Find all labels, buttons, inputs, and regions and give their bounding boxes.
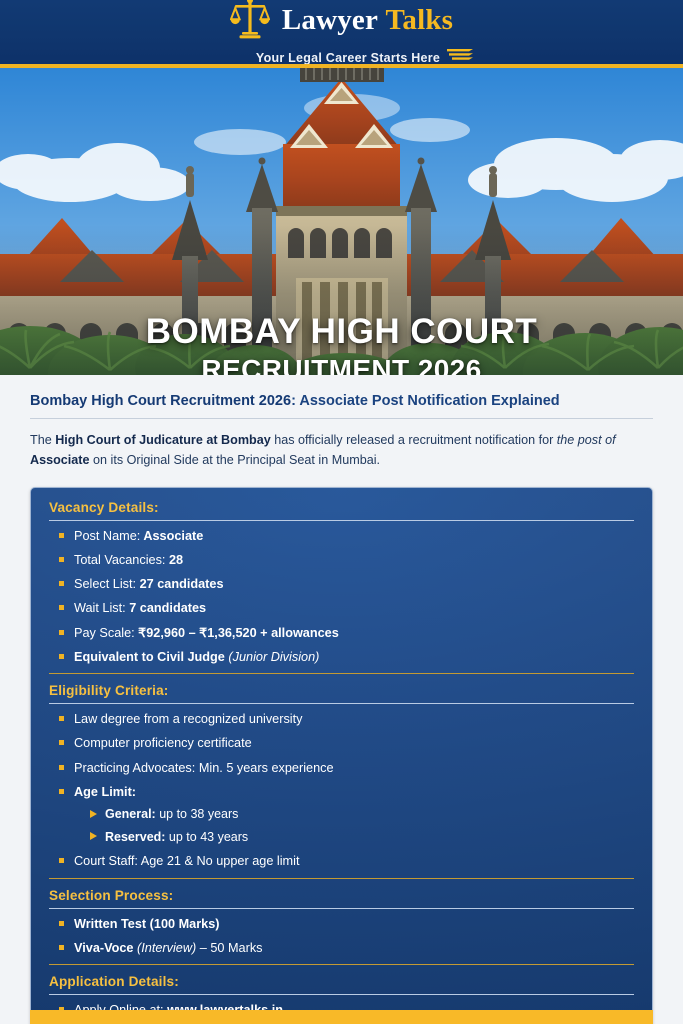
list-item: Equivalent to Civil Judge (Junior Divisi… — [59, 649, 634, 665]
article-paragraph: The High Court of Judicature at Bombay h… — [30, 430, 653, 471]
article-heading-main: Bombay High Court Recruitment 2026 — [30, 393, 291, 409]
para-seg-2: High Court of Judicature at Bombay — [55, 433, 271, 447]
list-item: Age Limit:General: up to 38 yearsReserve… — [59, 784, 634, 846]
brand-tagline: Your Legal Career Starts Here — [256, 51, 440, 65]
scales-of-justice-icon — [230, 0, 270, 45]
para-seg-1: The — [30, 433, 55, 447]
list-item: Wait List: 7 candidates — [59, 600, 634, 616]
hero-text-block: BOMBAY HIGH COURT RECRUITMENT 2026 ASSOC… — [0, 314, 683, 375]
brand-title: Lawyer Talks — [282, 6, 453, 35]
item-label: Age Limit: — [74, 785, 136, 799]
item-value: Law degree from a recognized university — [74, 712, 303, 726]
section-heading: Eligibility Criteria: — [49, 683, 634, 704]
item-label: Written Test (100 Marks) — [74, 917, 219, 931]
hero-banner: BOMBAY HIGH COURT RECRUITMENT 2026 ASSOC… — [0, 68, 683, 375]
list-item: Written Test (100 Marks) — [59, 916, 634, 932]
para-seg-4: the post of — [557, 433, 616, 447]
section-list: Law degree from a recognized universityC… — [49, 704, 634, 870]
hero-title: BOMBAY HIGH COURT — [0, 314, 683, 349]
item-value: Associate — [140, 529, 203, 543]
list-item: Law degree from a recognized university — [59, 711, 634, 727]
list-item: Total Vacancies: 28 — [59, 552, 634, 568]
item-value: Computer proficiency certificate — [74, 736, 252, 750]
list-item: Pay Scale: ₹92,960 – ₹1,36,520 + allowan… — [59, 625, 634, 641]
section-list: Post Name: AssociateTotal Vacancies: 28S… — [49, 521, 634, 666]
item-label: Pay Scale: — [74, 626, 135, 640]
sub-item-value: up to 43 years — [165, 830, 248, 844]
details-sections: Vacancy Details:Post Name: AssociateTota… — [49, 500, 634, 1024]
list-item: Select List: 27 candidates — [59, 576, 634, 592]
para-seg-3: has officially released a recruitment no… — [271, 433, 557, 447]
bottom-accent-strip — [30, 1010, 653, 1024]
section-heading: Vacancy Details: — [49, 500, 634, 521]
section-heading: Selection Process: — [49, 888, 634, 909]
list-item: Practicing Advocates: Min. 5 years exper… — [59, 760, 634, 776]
list-item: Viva-Voce (Interview) – 50 Marks — [59, 940, 634, 956]
poster-page: Lawyer Talks Your Legal Career Starts He… — [0, 0, 683, 1024]
item-suffix: – 50 Marks — [196, 941, 262, 955]
brand-word-two: Talks — [386, 4, 454, 36]
list-item: Court Staff: Age 21 & No upper age limit — [59, 853, 634, 869]
sub-list-item: Reserved: up to 43 years — [90, 830, 634, 846]
brand[interactable]: Lawyer Talks — [230, 0, 453, 45]
item-value: ₹92,960 – ₹1,36,520 + allowances — [135, 626, 339, 640]
card-section: Vacancy Details:Post Name: AssociateTota… — [49, 500, 634, 666]
details-card: Vacancy Details:Post Name: AssociateTota… — [30, 487, 653, 1024]
card-section: Eligibility Criteria:Law degree from a r… — [49, 673, 634, 870]
tagline-row: Your Legal Career Starts Here — [210, 48, 473, 67]
sub-list-item: General: up to 38 years — [90, 807, 634, 823]
item-label: Select List: — [74, 577, 136, 591]
sub-item-value: up to 38 years — [156, 807, 239, 821]
list-item: Post Name: Associate — [59, 528, 634, 544]
brand-word-one: Lawyer — [282, 4, 378, 36]
para-seg-6: on its Original Side at the Principal Se… — [90, 453, 381, 467]
sub-list: General: up to 38 yearsReserved: up to 4… — [74, 807, 634, 845]
item-label: Total Vacancies: — [74, 553, 165, 567]
item-label: Viva-Voce — [74, 941, 133, 955]
para-seg-5: Associate — [30, 453, 90, 467]
item-value: 27 candidates — [136, 577, 223, 591]
item-label: Court Staff: — [74, 854, 138, 868]
site-header: Lawyer Talks Your Legal Career Starts He… — [0, 0, 683, 68]
hero-subtitle: RECRUITMENT 2026 — [0, 356, 683, 375]
card-section: Selection Process:Written Test (100 Mark… — [49, 878, 634, 957]
sub-item-label: General: — [105, 807, 156, 821]
item-value: (Junior Division) — [225, 650, 319, 664]
item-value: Age 21 & No upper age limit — [138, 854, 300, 868]
article-content: Bombay High Court Recruitment 2026: Asso… — [0, 375, 683, 1024]
speed-lines-icon — [447, 48, 473, 67]
item-label: Practicing Advocates: — [74, 761, 195, 775]
article-heading-sub: : Associate Post Notification Explained — [291, 393, 560, 409]
item-value: Min. 5 years experience — [195, 761, 333, 775]
section-list: Written Test (100 Marks)Viva-Voce (Inter… — [49, 909, 634, 957]
sub-item-label: Reserved: — [105, 830, 165, 844]
section-heading: Application Details: — [49, 974, 634, 995]
item-label: Wait List: — [74, 601, 126, 615]
item-value: 28 — [165, 553, 183, 567]
item-value: (Interview) — [133, 941, 196, 955]
item-label: Post Name: — [74, 529, 140, 543]
item-label: Equivalent to Civil Judge — [74, 650, 225, 664]
article-heading: Bombay High Court Recruitment 2026: Asso… — [30, 392, 653, 419]
list-item: Computer proficiency certificate — [59, 735, 634, 751]
item-value: 7 candidates — [126, 601, 206, 615]
